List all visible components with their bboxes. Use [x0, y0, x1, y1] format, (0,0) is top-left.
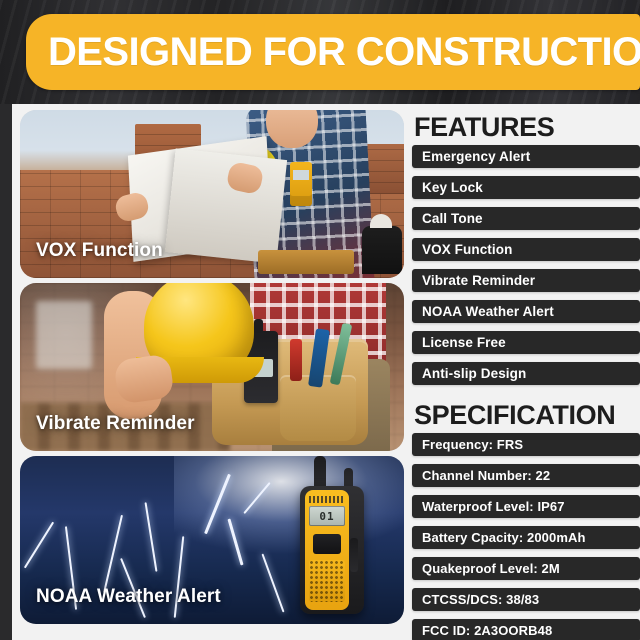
lightning-bolt [24, 522, 54, 569]
spec-label: Frequency: FRS [422, 437, 523, 452]
spec-label: Quakeproof Level: 2M [422, 561, 560, 576]
feature-item: License Free [412, 331, 640, 354]
card-caption: Vibrate Reminder [36, 413, 195, 435]
speaker-grille [309, 560, 345, 602]
side-button [350, 538, 358, 572]
feature-image-cards: VOX Function [20, 110, 404, 624]
walkie-talkie-product: 01 [300, 464, 364, 616]
card-caption: NOAA Weather Alert [36, 586, 221, 608]
feature-label: Anti-slip Design [422, 366, 526, 381]
card-caption: VOX Function [36, 240, 163, 262]
feature-item: Key Lock [412, 176, 640, 199]
lightning-flash-glow [174, 456, 404, 557]
infographic-page: DESIGNED FOR CONSTRUCTION [0, 0, 640, 640]
features-title: FEATURES [414, 114, 640, 141]
tool-pliers [290, 339, 302, 381]
brand-logo [309, 496, 345, 503]
spec-item: Waterproof Level: IP67 [412, 495, 640, 518]
background-window [36, 301, 92, 369]
walkie-talkie-on-vest [290, 162, 312, 206]
page-title: DESIGNED FOR CONSTRUCTION [48, 32, 640, 72]
header-banner: DESIGNED FOR CONSTRUCTION [26, 14, 640, 90]
features-section: FEATURES Emergency Alert Key Lock Call T… [412, 104, 640, 385]
spec-item: Frequency: FRS [412, 433, 640, 456]
feature-label: Call Tone [422, 211, 483, 226]
background-worker [362, 226, 402, 274]
feature-item: Vibrate Reminder [412, 269, 640, 292]
spec-label: FCC ID: 2A3OORB48 [422, 623, 552, 638]
spec-item: CTCSS/DCS: 38/83 [412, 588, 640, 611]
feature-item: Emergency Alert [412, 145, 640, 168]
lcd-screen: 01 [309, 506, 345, 526]
spec-item: Channel Number: 22 [412, 464, 640, 487]
feature-item: NOAA Weather Alert [412, 300, 640, 323]
lcd-channel-value: 01 [319, 510, 334, 523]
lightning-bolt [145, 502, 158, 571]
lightning-bolt [103, 515, 123, 593]
specification-title: SPECIFICATION [414, 402, 640, 429]
spec-label: Battery Cpacity: 2000mAh [422, 530, 586, 545]
lightning-bolt [261, 554, 284, 613]
feature-item: VOX Function [412, 238, 640, 261]
feature-item: Call Tone [412, 207, 640, 230]
feature-item: Anti-slip Design [412, 362, 640, 385]
feature-label: Key Lock [422, 180, 483, 195]
spec-item: FCC ID: 2A3OORB48 [412, 619, 640, 640]
specification-section: SPECIFICATION Frequency: FRS Channel Num… [412, 393, 640, 640]
content-panel: VOX Function [12, 104, 640, 640]
tool-belt [258, 250, 354, 274]
spec-label: CTCSS/DCS: 38/83 [422, 592, 539, 607]
spec-column: FEATURES Emergency Alert Key Lock Call T… [412, 104, 640, 640]
feature-label: Vibrate Reminder [422, 273, 535, 288]
spec-item: Quakeproof Level: 2M [412, 557, 640, 580]
feature-label: NOAA Weather Alert [422, 304, 554, 319]
blueprint-sheet-back [165, 148, 287, 263]
feature-label: Emergency Alert [422, 149, 530, 164]
feature-label: VOX Function [422, 242, 512, 257]
image-card-vibrate-reminder[interactable]: Vibrate Reminder [20, 283, 404, 451]
spec-label: Waterproof Level: IP67 [422, 499, 565, 514]
spec-label: Channel Number: 22 [422, 468, 550, 483]
ptt-button [313, 534, 341, 554]
image-card-noaa-weather-alert[interactable]: 01 NOAA Weather Alert [20, 456, 404, 624]
image-card-vox-function[interactable]: VOX Function [20, 110, 404, 278]
spec-item: Battery Cpacity: 2000mAh [412, 526, 640, 549]
feature-label: License Free [422, 335, 506, 350]
